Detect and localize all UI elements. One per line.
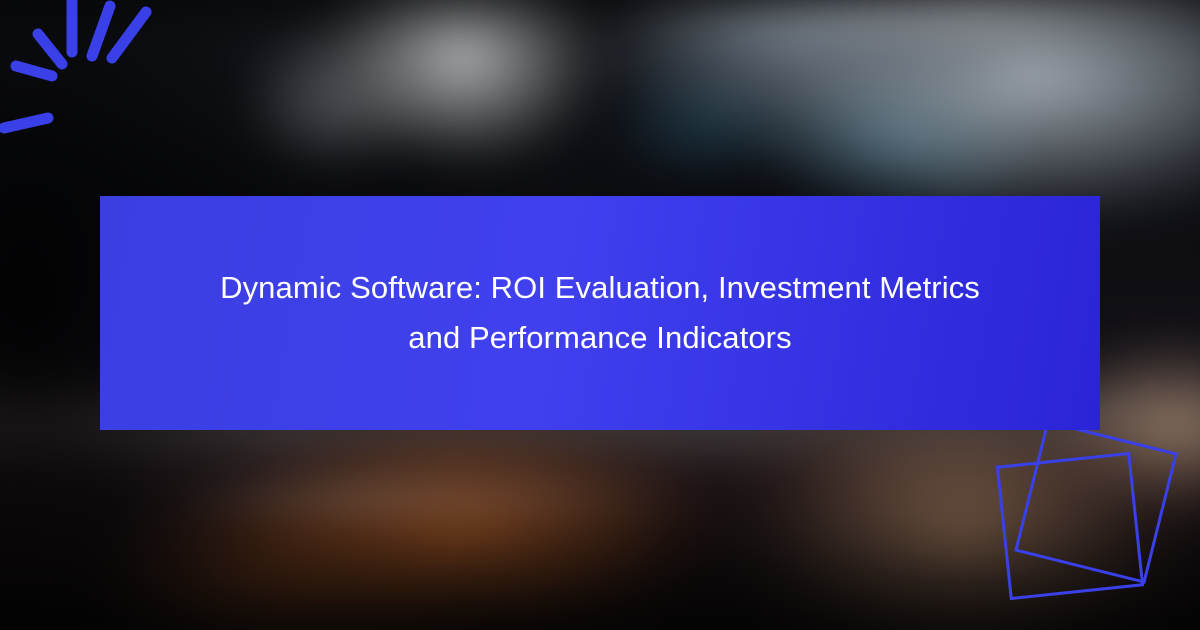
blue-spark-lines-icon xyxy=(0,0,190,160)
title-banner: Dynamic Software: ROI Evaluation, Invest… xyxy=(100,196,1100,430)
blue-rotated-squares-icon xyxy=(970,400,1200,630)
social-share-card: Dynamic Software: ROI Evaluation, Invest… xyxy=(0,0,1200,630)
banner-title: Dynamic Software: ROI Evaluation, Invest… xyxy=(200,263,1000,363)
